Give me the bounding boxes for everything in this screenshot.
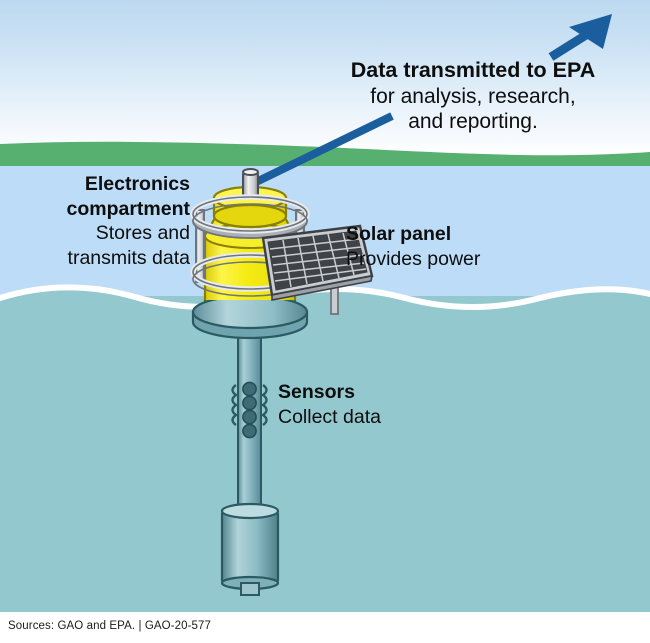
epa-line-2: for analysis, research, bbox=[318, 84, 628, 110]
solar-line-1: Solar panel bbox=[346, 222, 576, 247]
callout-electronics-compartment: Electronics compartment Stores and trans… bbox=[12, 172, 190, 270]
epa-line-3: and reporting. bbox=[318, 109, 628, 135]
ballast-weight bbox=[222, 504, 278, 595]
antenna-icon bbox=[243, 169, 258, 198]
electronics-line-4: transmits data bbox=[12, 246, 190, 271]
callout-sensors: Sensors Collect data bbox=[278, 380, 478, 429]
callout-data-transmitted-to-epa: Data transmitted to EPA for analysis, re… bbox=[318, 58, 628, 135]
electronics-line-2: compartment bbox=[12, 197, 190, 222]
buoy-diagram-figure: Data transmitted to EPA for analysis, re… bbox=[0, 0, 650, 643]
source-line: Sources: GAO and EPA. | GAO-20-577 bbox=[8, 620, 211, 632]
epa-line-1: Data transmitted to EPA bbox=[318, 58, 628, 84]
electronics-line-3: Stores and bbox=[12, 221, 190, 246]
sensors-line-2: Collect data bbox=[278, 405, 478, 430]
solar-line-2: Provides power bbox=[346, 247, 576, 272]
electronics-line-1: Electronics bbox=[12, 172, 190, 197]
flotation-collar bbox=[193, 296, 307, 338]
sensors-line-1: Sensors bbox=[278, 380, 478, 405]
transmission-arrow-icon bbox=[551, 14, 612, 57]
callout-solar-panel: Solar panel Provides power bbox=[346, 222, 576, 271]
